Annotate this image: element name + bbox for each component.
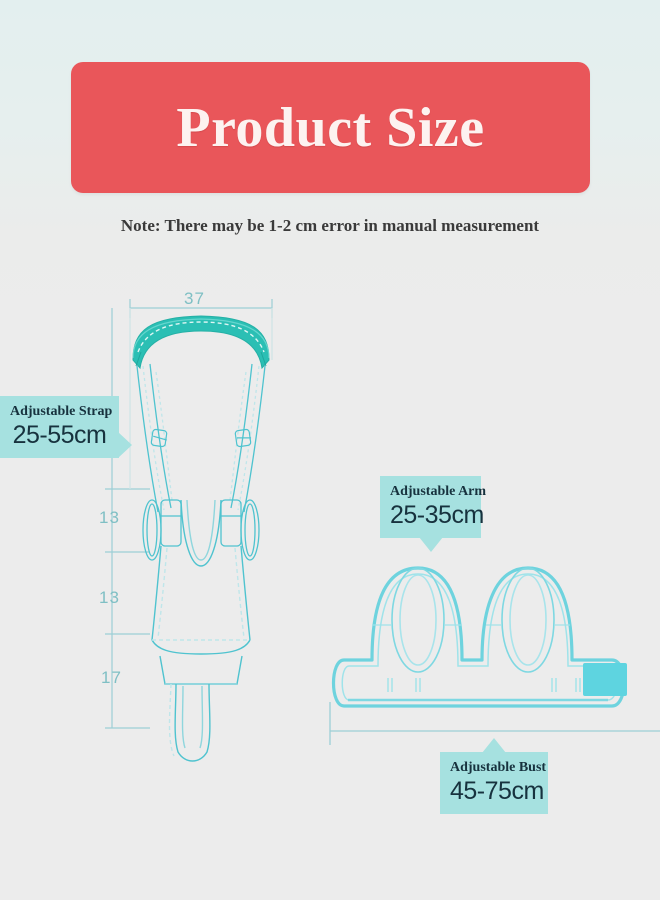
leg-strap-outer (175, 684, 210, 761)
dimension-segment-3-label: 17 (101, 668, 122, 688)
callout-bust-value: 45-75cm (450, 777, 538, 806)
chest-belt-figure (330, 568, 660, 745)
loop-right-outer (241, 500, 259, 560)
callout-strap-value: 25-55cm (10, 421, 109, 450)
strap-left-outer (137, 366, 158, 512)
callout-adjustable-arm: Adjustable Arm 25-35cm (380, 476, 481, 538)
hip-band-top (152, 640, 250, 654)
product-size-infographic: Product Size Note: There may be 1-2 cm e… (0, 0, 660, 900)
padded-handle (133, 316, 269, 368)
callout-bust-title: Adjustable Bust (450, 759, 538, 777)
dimension-segment-1-label: 13 (99, 508, 120, 528)
callout-strap-pointer (118, 432, 132, 458)
loop-right-inner (510, 575, 546, 665)
callout-arm-pointer (419, 537, 443, 552)
callout-arm-title: Adjustable Arm (390, 483, 471, 501)
velcro-patch (583, 663, 627, 696)
dimension-width-label: 37 (184, 289, 205, 309)
callout-adjustable-strap: Adjustable Strap 25-55cm (0, 396, 119, 458)
loop-right-inner (245, 504, 255, 556)
front-harness-figure (105, 299, 272, 761)
callout-adjustable-bust: Adjustable Bust 45-75cm (440, 752, 548, 814)
loop-left-inner (147, 504, 157, 556)
neckline-inner (187, 500, 215, 560)
dimension-segment-2-label: 13 (99, 588, 120, 608)
body-vest (152, 500, 250, 684)
shoulder-loops (372, 568, 570, 672)
callout-bust-pointer (482, 738, 506, 753)
callout-strap-title: Adjustable Strap (10, 403, 109, 421)
strap-right-outer (244, 366, 265, 512)
loop-left-outer (143, 500, 161, 560)
hip-band (160, 656, 242, 684)
crotch-strap (170, 684, 210, 761)
loop-left-inner (400, 575, 436, 665)
slot-marks (388, 678, 580, 692)
callout-arm-value: 25-35cm (390, 501, 471, 530)
